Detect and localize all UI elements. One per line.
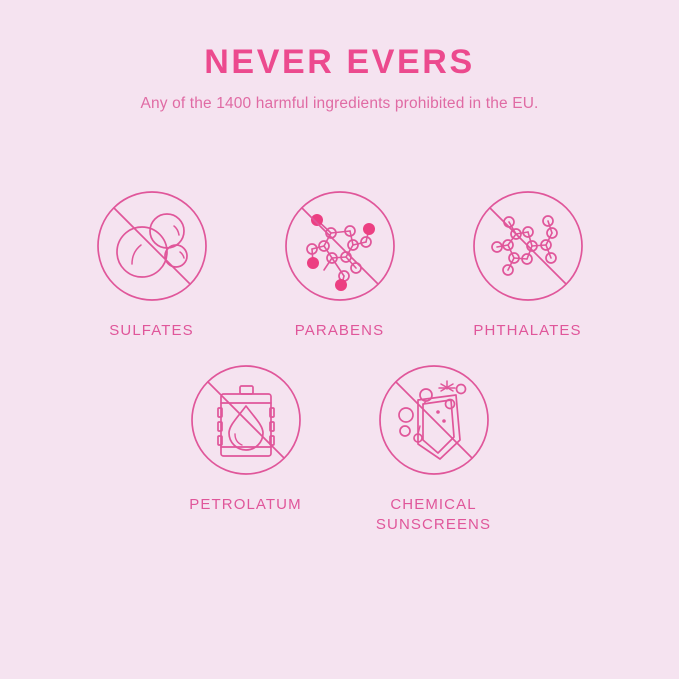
ingredient-item-parabens: PARABENS xyxy=(284,190,396,342)
ingredient-item-chemical-sunscreens: CHEMICAL SUNSCREENS xyxy=(378,364,490,536)
ingredient-label: PHTHALATES xyxy=(473,321,581,342)
ingredient-row-1: SULFATES xyxy=(0,190,679,342)
ingredient-label: PETROLATUM xyxy=(189,495,301,516)
ingredient-item-sulfates: SULFATES xyxy=(96,190,208,342)
ingredient-label: PARABENS xyxy=(295,321,384,342)
no-chemical-sunscreens-shield-icon xyxy=(378,364,490,476)
ingredient-grid: SULFATES xyxy=(0,190,679,536)
ingredient-row-2: PETROLATUM xyxy=(0,364,679,536)
header: NEVER EVERS Any of the 1400 harmful ingr… xyxy=(0,44,679,114)
ingredient-label: CHEMICAL SUNSCREENS xyxy=(376,495,491,536)
no-phthalates-molecule-icon xyxy=(472,190,584,302)
page-title: NEVER EVERS xyxy=(0,44,679,81)
never-evers-infographic: NEVER EVERS Any of the 1400 harmful ingr… xyxy=(0,0,679,679)
no-sulfates-bubbles-icon xyxy=(96,190,208,302)
ingredient-item-petrolatum: PETROLATUM xyxy=(190,364,302,516)
no-petrolatum-barrel-icon xyxy=(190,364,302,476)
page-subtitle: Any of the 1400 harmful ingredients proh… xyxy=(0,95,679,114)
ingredient-item-phthalates: PHTHALATES xyxy=(472,190,584,342)
ingredient-label: SULFATES xyxy=(109,321,193,342)
no-parabens-molecule-icon xyxy=(284,190,396,302)
